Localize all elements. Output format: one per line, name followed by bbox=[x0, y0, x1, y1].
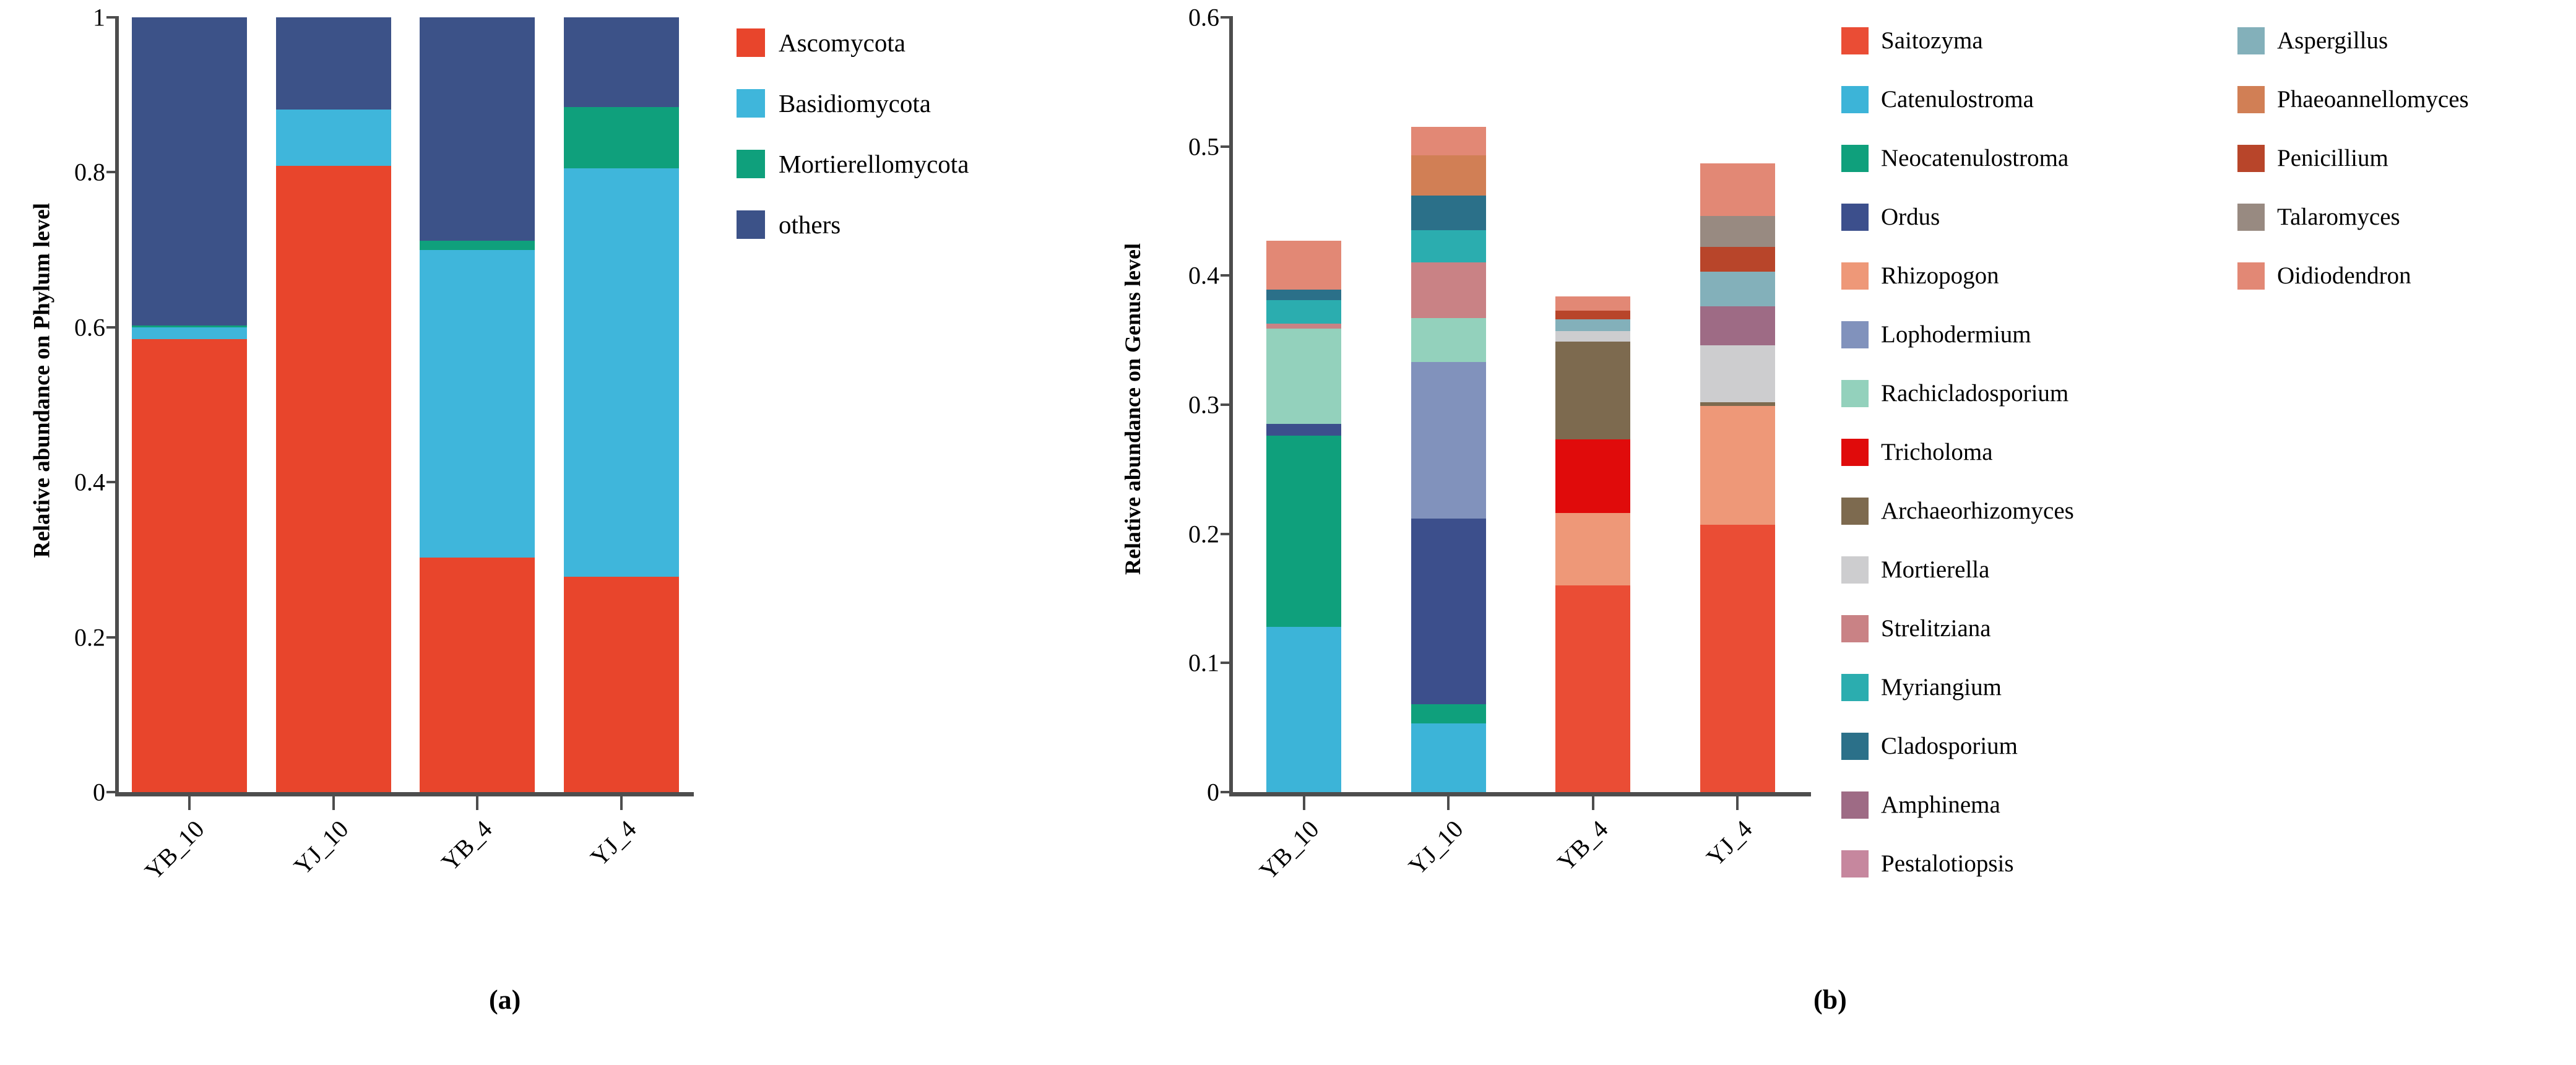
y-tick-mark bbox=[1221, 145, 1233, 148]
bar-segment[interactable] bbox=[1700, 306, 1775, 345]
bar-segment[interactable] bbox=[1411, 127, 1486, 155]
x-tick-label: YJ_10 bbox=[1361, 814, 1469, 923]
bar-segment[interactable] bbox=[420, 558, 535, 792]
x-tick-label: YB_10 bbox=[102, 814, 210, 923]
bar-segment[interactable] bbox=[420, 241, 535, 250]
legend-color-swatch bbox=[1841, 86, 1869, 113]
legend-item[interactable]: Oidiodendron bbox=[2237, 246, 2411, 305]
x-tick-mark bbox=[620, 796, 623, 810]
legend-color-swatch bbox=[2237, 27, 2265, 54]
legend-item[interactable]: Saitozyma bbox=[1841, 11, 1983, 70]
stacked-bar[interactable] bbox=[1555, 17, 1630, 792]
legend-color-swatch bbox=[1841, 498, 1869, 525]
bar-segment[interactable] bbox=[1411, 723, 1486, 792]
legend-item[interactable]: Ordus bbox=[1841, 188, 1940, 246]
y-tick-label: 0.3 bbox=[1151, 390, 1219, 420]
panel-b-y-axis-title: Relative abundance on Genus level bbox=[1120, 236, 1146, 582]
bar-segment[interactable] bbox=[1411, 519, 1486, 704]
bar-segment[interactable] bbox=[1411, 318, 1486, 362]
legend-item-label: Mortierella bbox=[1881, 556, 1989, 584]
legend-item[interactable]: Penicillium bbox=[2237, 129, 2388, 188]
bar-segment[interactable] bbox=[1555, 319, 1630, 331]
bar-segment[interactable] bbox=[1700, 216, 1775, 247]
x-tick-mark bbox=[1447, 796, 1450, 810]
bar-segment[interactable] bbox=[1555, 331, 1630, 342]
legend-item-label: Talaromyces bbox=[2277, 203, 2400, 231]
bar-segment[interactable] bbox=[564, 107, 679, 168]
bar-segment[interactable] bbox=[1700, 247, 1775, 272]
legend-item-label: Oidiodendron bbox=[2277, 262, 2411, 290]
y-tick-label: 0.6 bbox=[1151, 3, 1219, 32]
panel-b-legend-column-1: SaitozymaCatenulostromaNeocatenulostroma… bbox=[1841, 11, 2237, 896]
bar-segment[interactable] bbox=[564, 168, 679, 577]
y-tick-mark bbox=[1221, 662, 1233, 664]
legend-item-label: Penicillium bbox=[2277, 144, 2388, 172]
legend-item-label: Tricholoma bbox=[1881, 438, 1993, 466]
y-tick-mark bbox=[106, 171, 119, 173]
legend-item[interactable]: Archaeorhizomyces bbox=[1841, 481, 2074, 540]
legend-item-label: Rachicladosporium bbox=[1881, 379, 2068, 407]
legend-item-label: Saitozyma bbox=[1881, 27, 1983, 54]
legend-color-swatch bbox=[2237, 86, 2265, 113]
legend-color-swatch bbox=[737, 210, 765, 239]
legend-color-swatch bbox=[1841, 204, 1869, 231]
y-tick-mark bbox=[1221, 791, 1233, 793]
stacked-bar[interactable] bbox=[132, 17, 247, 792]
legend-item-label: Strelitziana bbox=[1881, 614, 1991, 642]
stacked-bar[interactable] bbox=[420, 17, 535, 792]
stacked-bar[interactable] bbox=[1411, 17, 1486, 792]
bar-segment[interactable] bbox=[1266, 241, 1341, 290]
x-tick-mark bbox=[476, 796, 478, 810]
bar-segment[interactable] bbox=[1266, 329, 1341, 424]
y-tick-label: 0 bbox=[37, 778, 105, 807]
y-tick-mark bbox=[1221, 16, 1233, 19]
x-tick-mark bbox=[1592, 796, 1594, 810]
bar-segment[interactable] bbox=[1700, 163, 1775, 217]
legend-color-swatch bbox=[1841, 674, 1869, 701]
legend-color-swatch bbox=[1841, 439, 1869, 466]
bar-segment[interactable] bbox=[420, 17, 535, 241]
bar-segment[interactable] bbox=[132, 339, 247, 792]
legend-item-label: Neocatenulostroma bbox=[1881, 144, 2068, 172]
legend-color-swatch bbox=[1841, 556, 1869, 584]
legend-color-swatch bbox=[737, 150, 765, 178]
legend-item[interactable]: Tricholoma bbox=[1841, 423, 1993, 481]
x-tick-label: YJ_4 bbox=[1650, 814, 1758, 923]
y-tick-mark bbox=[106, 636, 119, 639]
legend-color-swatch bbox=[1841, 733, 1869, 760]
legend-color-swatch bbox=[1841, 615, 1869, 642]
y-tick-label: 0.8 bbox=[37, 158, 105, 187]
bar-segment[interactable] bbox=[1555, 342, 1630, 440]
x-tick-mark bbox=[188, 796, 191, 810]
y-tick-mark bbox=[1221, 403, 1233, 406]
legend-item-label: Lophodermium bbox=[1881, 321, 2031, 348]
legend-item-label: Basidiomycota bbox=[779, 88, 931, 118]
x-tick-mark bbox=[332, 796, 335, 810]
x-tick-label: YB_10 bbox=[1216, 814, 1325, 923]
bar-segment[interactable] bbox=[276, 110, 391, 166]
legend-color-swatch bbox=[1841, 27, 1869, 54]
y-tick-label: 0.5 bbox=[1151, 132, 1219, 161]
legend-item[interactable]: Pestalotiopsis bbox=[1841, 834, 2014, 893]
legend-item-label: Myriangium bbox=[1881, 673, 2002, 701]
bar-segment[interactable] bbox=[1555, 311, 1630, 320]
y-tick-label: 0.4 bbox=[37, 468, 105, 497]
y-tick-label: 0.4 bbox=[1151, 261, 1219, 290]
figure-caption: (b) bbox=[1813, 984, 1847, 1015]
panel-b-x-axis-line bbox=[1229, 792, 1811, 796]
panel-a-x-axis-line bbox=[115, 792, 694, 796]
y-tick-mark bbox=[1221, 533, 1233, 535]
panel-b-legend-column-2: AspergillusPhaeoannellomycesPenicilliumT… bbox=[2237, 11, 2575, 321]
legend-item-label: Ordus bbox=[1881, 203, 1940, 231]
legend-item[interactable]: Mortierellomycota bbox=[737, 134, 969, 194]
legend-color-swatch bbox=[2237, 145, 2265, 172]
bar-segment[interactable] bbox=[1266, 300, 1341, 324]
legend-color-swatch bbox=[1841, 850, 1869, 877]
legend-item-label: Rhizopogon bbox=[1881, 262, 1999, 290]
legend-color-swatch bbox=[1841, 145, 1869, 172]
legend-item[interactable]: Rhizopogon bbox=[1841, 246, 1999, 305]
bar-segment[interactable] bbox=[132, 327, 247, 339]
x-tick-label: YB_4 bbox=[390, 814, 498, 923]
bar-segment[interactable] bbox=[1411, 704, 1486, 723]
bar-segment[interactable] bbox=[1266, 290, 1341, 300]
legend-color-swatch bbox=[2237, 262, 2265, 290]
stacked-bar[interactable] bbox=[276, 17, 391, 792]
legend-item-label: Mortierellomycota bbox=[779, 149, 969, 179]
bar-segment[interactable] bbox=[1700, 402, 1775, 406]
x-tick-label: YJ_4 bbox=[534, 814, 642, 923]
y-tick-mark bbox=[106, 481, 119, 483]
stacked-bar[interactable] bbox=[1700, 17, 1775, 792]
panel-a-phylum-chart: Relative abundance on Phylum level 00.20… bbox=[0, 0, 1052, 965]
bar-segment[interactable] bbox=[132, 17, 247, 326]
legend-color-swatch bbox=[737, 89, 765, 118]
legend-item[interactable]: Strelitziana bbox=[1841, 599, 1991, 658]
x-tick-label: YB_4 bbox=[1505, 814, 1614, 923]
legend-item-label: Amphinema bbox=[1881, 791, 2000, 819]
panel-a-y-axis-title: Relative abundance on Phylum level bbox=[29, 212, 56, 558]
bar-segment[interactable] bbox=[1411, 230, 1486, 262]
legend-item[interactable]: Cladosporium bbox=[1841, 717, 2018, 775]
legend-item[interactable]: Neocatenulostroma bbox=[1841, 129, 2068, 188]
figure-root: Relative abundance on Phylum level 00.20… bbox=[0, 0, 2576, 1065]
y-tick-mark bbox=[106, 791, 119, 793]
bar-segment[interactable] bbox=[420, 250, 535, 558]
y-tick-label: 0.1 bbox=[1151, 649, 1219, 678]
legend-item[interactable]: Aspergillus bbox=[2237, 11, 2388, 70]
bar-segment[interactable] bbox=[1700, 525, 1775, 792]
bar-segment[interactable] bbox=[1555, 585, 1630, 792]
legend-color-swatch bbox=[1841, 262, 1869, 290]
bar-segment[interactable] bbox=[564, 17, 679, 107]
y-tick-label: 0 bbox=[1151, 778, 1219, 807]
bar-segment[interactable] bbox=[1266, 424, 1341, 436]
x-tick-mark bbox=[1736, 796, 1739, 810]
legend-color-swatch bbox=[2237, 204, 2265, 231]
legend-item-label: Phaeoannellomyces bbox=[2277, 85, 2469, 113]
panel-a-plot-area bbox=[118, 17, 693, 792]
legend-item[interactable]: Catenulostroma bbox=[1841, 70, 2034, 129]
figure-caption: (a) bbox=[489, 984, 521, 1015]
bar-segment[interactable] bbox=[1555, 439, 1630, 513]
y-tick-mark bbox=[106, 326, 119, 329]
x-tick-mark bbox=[1303, 796, 1305, 810]
legend-item-label: Pestalotiopsis bbox=[1881, 850, 2014, 877]
legend-item[interactable]: Myriangium bbox=[1841, 658, 2002, 717]
bar-segment[interactable] bbox=[1411, 196, 1486, 230]
bar-segment[interactable] bbox=[1266, 436, 1341, 627]
legend-item[interactable]: others bbox=[737, 194, 841, 255]
bar-segment[interactable] bbox=[1555, 513, 1630, 585]
bar-segment[interactable] bbox=[1411, 262, 1486, 318]
legend-color-swatch bbox=[1841, 791, 1869, 819]
legend-item[interactable]: Amphinema bbox=[1841, 775, 2000, 834]
y-tick-mark bbox=[106, 16, 119, 19]
legend-color-swatch bbox=[737, 28, 765, 57]
y-tick-label: 0.2 bbox=[1151, 519, 1219, 548]
legend-item[interactable]: Mortierella bbox=[1841, 540, 1989, 599]
legend-item-label: others bbox=[779, 210, 841, 239]
y-tick-label: 1 bbox=[37, 3, 105, 32]
stacked-bar[interactable] bbox=[1266, 17, 1341, 792]
legend-color-swatch bbox=[1841, 380, 1869, 407]
bar-segment[interactable] bbox=[1411, 155, 1486, 196]
bar-segment[interactable] bbox=[1700, 345, 1775, 402]
bar-segment[interactable] bbox=[276, 17, 391, 110]
panel-b-plot-area bbox=[1232, 17, 1810, 792]
bar-segment[interactable] bbox=[1555, 296, 1630, 311]
bar-segment[interactable] bbox=[1266, 627, 1341, 792]
legend-item[interactable]: Rachicladosporium bbox=[1841, 364, 2068, 423]
bar-segment[interactable] bbox=[132, 326, 247, 327]
stacked-bar[interactable] bbox=[564, 17, 679, 792]
bar-segment[interactable] bbox=[276, 166, 391, 792]
legend-item-label: Catenulostroma bbox=[1881, 85, 2034, 113]
legend-item-label: Cladosporium bbox=[1881, 732, 2018, 760]
legend-item[interactable]: Talaromyces bbox=[2237, 188, 2400, 246]
panel-b-genus-chart: Relative abundance on Genus level 00.10.… bbox=[1089, 0, 2575, 965]
bar-segment[interactable] bbox=[564, 577, 679, 792]
legend-item-label: Archaeorhizomyces bbox=[1881, 497, 2074, 525]
x-tick-label: YJ_10 bbox=[246, 814, 354, 923]
legend-item[interactable]: Ascomycota bbox=[737, 12, 905, 73]
y-tick-mark bbox=[1221, 274, 1233, 277]
y-tick-label: 0.2 bbox=[37, 623, 105, 652]
bar-segment[interactable] bbox=[1266, 324, 1341, 329]
bar-segment[interactable] bbox=[1700, 272, 1775, 306]
legend-item[interactable]: Basidiomycota bbox=[737, 73, 931, 134]
y-tick-label: 0.6 bbox=[37, 313, 105, 342]
legend-item[interactable]: Phaeoannellomyces bbox=[2237, 70, 2469, 129]
panel-a-legend: AscomycotaBasidiomycotaMortierellomycota… bbox=[737, 12, 1034, 272]
bar-segment[interactable] bbox=[1411, 362, 1486, 518]
legend-item-label: Ascomycota bbox=[779, 28, 905, 58]
legend-item[interactable]: Lophodermium bbox=[1841, 305, 2031, 364]
legend-item-label: Aspergillus bbox=[2277, 27, 2388, 54]
bar-segment[interactable] bbox=[1700, 406, 1775, 525]
legend-color-swatch bbox=[1841, 321, 1869, 348]
